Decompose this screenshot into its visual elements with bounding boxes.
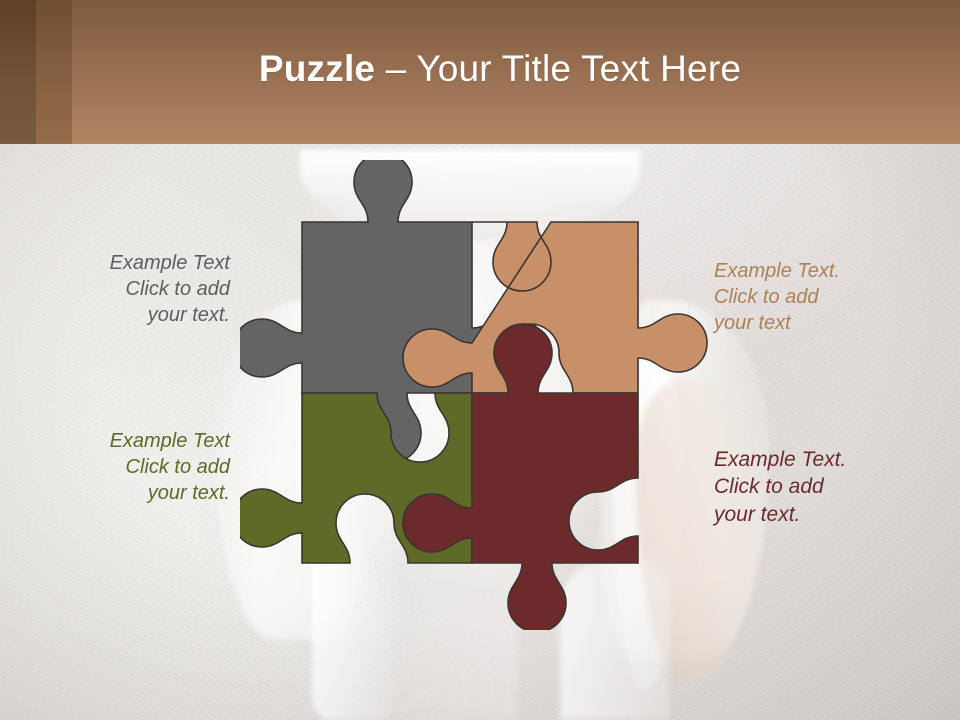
title-bar: Puzzle – Your Title Text Here <box>0 0 960 144</box>
header-band-mid <box>36 0 72 144</box>
page-title-strong: Puzzle <box>259 48 375 89</box>
page-title: Puzzle – Your Title Text Here <box>259 48 741 90</box>
page-title-rest: – Your Title Text Here <box>375 48 741 89</box>
caption-top-right[interactable]: Example Text. Click to add your text <box>714 258 904 336</box>
header-band-dark <box>0 0 36 144</box>
caption-bottom-right[interactable]: Example Text. Click to add your text. <box>714 446 914 528</box>
puzzle-graphic <box>240 160 710 630</box>
caption-top-left[interactable]: Example Text Click to add your text. <box>60 250 230 328</box>
slide-canvas: Puzzle – Your Title Text Here Example Te… <box>0 0 960 720</box>
caption-bottom-left[interactable]: Example Text Click to add your text. <box>58 428 230 506</box>
header-band-main: Puzzle – Your Title Text Here <box>72 0 960 144</box>
